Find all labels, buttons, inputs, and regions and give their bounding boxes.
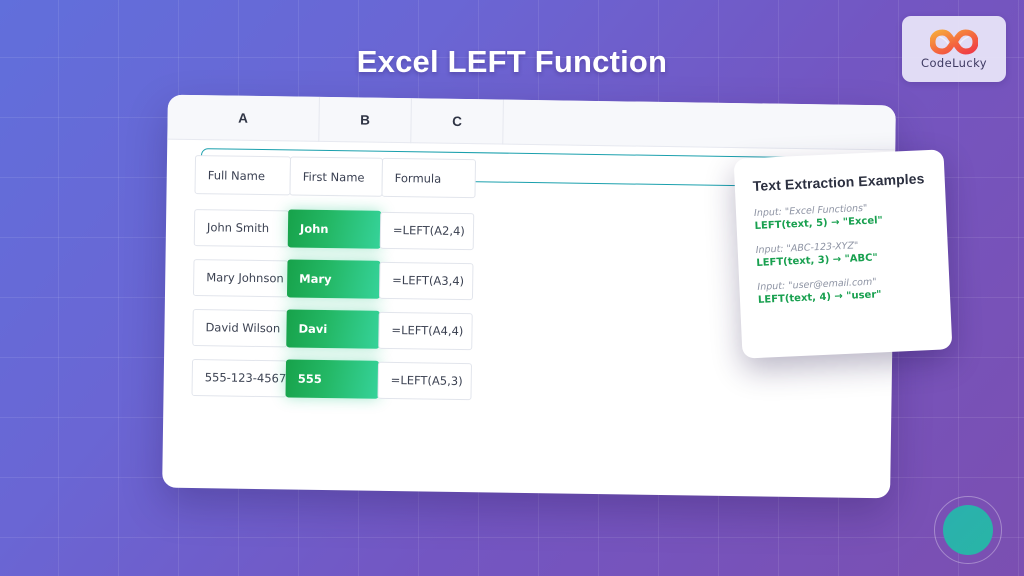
cell-b1[interactable]: First Name [289,156,383,196]
cell-b3[interactable]: Mary [287,259,381,298]
column-header-empty [503,100,896,151]
brand-name: CodeLucky [921,56,987,70]
spreadsheet-grid: Full Name First Name Formula John Smith … [191,155,476,412]
cell-a4[interactable]: David Wilson [192,309,288,347]
decorative-circle-dot [943,505,993,555]
cell-a2[interactable]: John Smith [194,209,290,247]
table-row: David Wilson Davi =LEFT(A4,4) [192,308,474,350]
infinity-icon [930,29,978,55]
column-header-row: A B C [167,95,896,151]
cell-a1[interactable]: Full Name [194,155,291,195]
column-header-a[interactable]: A [167,95,320,142]
list-item: Input: "user@email.com" LEFT(text, 4) → … [757,274,934,306]
table-row: Full Name First Name Formula [194,155,476,198]
cell-c2[interactable]: =LEFT(A2,4) [380,211,475,249]
cell-b5[interactable]: 555 [285,359,379,398]
text-extraction-examples-card: Text Extraction Examples Input: "Excel F… [734,149,953,358]
table-row: John Smith John =LEFT(A2,4) [194,208,476,250]
table-row: 555-123-4567 555 =LEFT(A5,3) [191,358,473,400]
cell-b2[interactable]: John [288,209,382,248]
column-header-b[interactable]: B [319,97,412,143]
page-title: Excel LEFT Function [0,44,1024,80]
list-item: Input: "Excel Functions" LEFT(text, 5) →… [754,200,931,232]
column-header-c[interactable]: C [411,98,504,144]
examples-card-title: Text Extraction Examples [752,170,929,194]
cell-b4[interactable]: Davi [286,309,380,348]
cell-c4[interactable]: =LEFT(A4,4) [378,311,473,349]
decorative-circle-ring [934,496,1002,564]
brand-logo-badge: CodeLucky [902,16,1006,82]
list-item: Input: "ABC-123-XYZ" LEFT(text, 3) → "AB… [755,237,932,269]
cell-a3[interactable]: Mary Johnson [193,259,289,297]
cell-a5[interactable]: 555-123-4567 [191,359,287,397]
cell-c3[interactable]: =LEFT(A3,4) [379,261,474,299]
table-row: Mary Johnson Mary =LEFT(A3,4) [193,258,475,300]
cell-c5[interactable]: =LEFT(A5,3) [377,361,472,399]
cell-c1[interactable]: Formula [381,158,476,198]
